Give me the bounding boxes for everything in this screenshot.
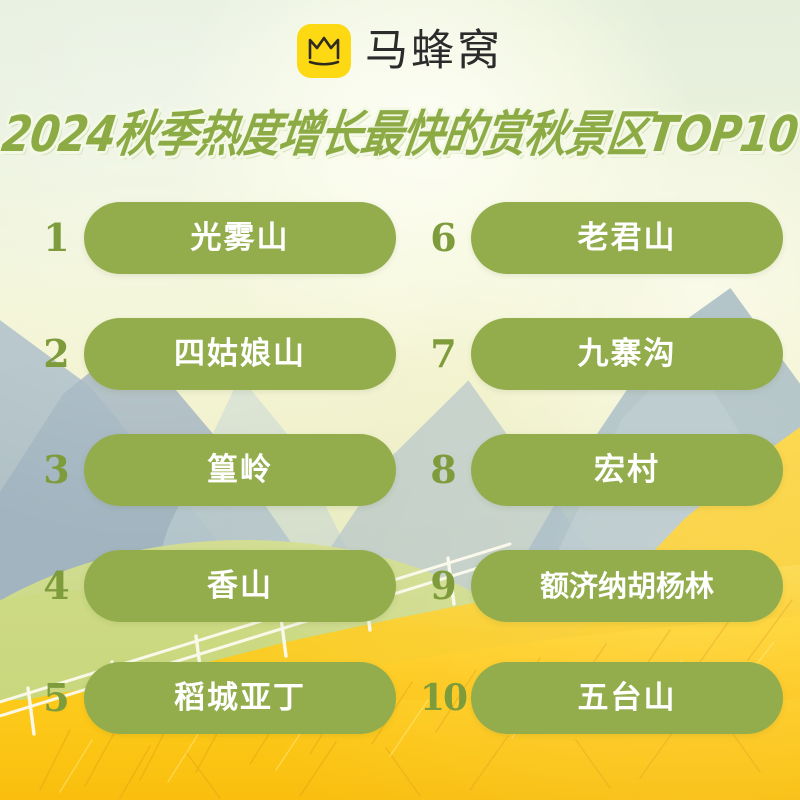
rank-number-10: 10: [415, 680, 471, 716]
rank-number-1: 1: [28, 219, 84, 257]
rank-item-6[interactable]: 6 老君山: [415, 202, 783, 274]
crown-glyph-icon: [306, 35, 342, 67]
rank-pill-6[interactable]: 老君山: [471, 202, 783, 274]
rank-number-9: 9: [415, 567, 471, 605]
rank-item-9[interactable]: 9 额济纳胡杨林: [415, 550, 783, 622]
rank-pill-7[interactable]: 九寨沟: [471, 318, 783, 390]
page-title: 2024秋季热度增长最快的赏秋景区TOP10: [0, 100, 800, 160]
rank-name-7: 九寨沟: [578, 339, 677, 370]
rank-number-6: 6: [415, 219, 471, 257]
rank-item-5[interactable]: 5 稻城亚丁: [28, 662, 396, 734]
rank-name-10: 五台山: [578, 683, 677, 714]
rank-number-2: 2: [28, 335, 84, 373]
rank-pill-5[interactable]: 稻城亚丁: [84, 662, 396, 734]
rank-item-3[interactable]: 3 篁岭: [28, 434, 396, 506]
rank-item-2[interactable]: 2 四姑娘山: [28, 318, 396, 390]
rank-pill-1[interactable]: 光雾山: [84, 202, 396, 274]
rank-name-5: 稻城亚丁: [174, 683, 306, 714]
mafengwo-crown-logo-icon: [297, 24, 351, 78]
rank-number-7: 7: [415, 335, 471, 373]
ranking-grid: 1 光雾山 2 四姑娘山 3 篁岭 4 香山: [0, 196, 800, 756]
rank-number-5: 5: [28, 679, 84, 717]
rank-name-8: 宏村: [594, 455, 660, 486]
rank-item-7[interactable]: 7 九寨沟: [415, 318, 783, 390]
rank-pill-2[interactable]: 四姑娘山: [84, 318, 396, 390]
rank-name-6: 老君山: [578, 223, 677, 254]
rank-number-4: 4: [28, 567, 84, 605]
rank-item-4[interactable]: 4 香山: [28, 550, 396, 622]
rank-item-10[interactable]: 10 五台山: [415, 662, 783, 734]
page-title-text: 2024秋季热度增长最快的赏秋景区TOP10: [0, 94, 800, 166]
rank-pill-4[interactable]: 香山: [84, 550, 396, 622]
rank-name-3: 篁岭: [207, 455, 273, 486]
poster-canvas: 马蜂窝 2024秋季热度增长最快的赏秋景区TOP10 1 光雾山 2 四姑娘山 …: [0, 0, 800, 800]
rank-pill-10[interactable]: 五台山: [471, 662, 783, 734]
rank-number-3: 3: [28, 451, 84, 489]
ranking-column-left: 1 光雾山 2 四姑娘山 3 篁岭 4 香山: [28, 196, 408, 756]
rank-pill-9[interactable]: 额济纳胡杨林: [471, 550, 783, 622]
rank-pill-3[interactable]: 篁岭: [84, 434, 396, 506]
rank-item-8[interactable]: 8 宏村: [415, 434, 783, 506]
brand-header: 马蜂窝: [0, 22, 800, 80]
rank-name-2: 四姑娘山: [174, 339, 306, 370]
rank-pill-8[interactable]: 宏村: [471, 434, 783, 506]
rank-item-1[interactable]: 1 光雾山: [28, 202, 396, 274]
ranking-column-right: 6 老君山 7 九寨沟 8 宏村 9 额济纳胡杨林: [415, 196, 795, 756]
rank-number-8: 8: [415, 451, 471, 489]
rank-name-4: 香山: [207, 571, 273, 602]
brand-name-text: 马蜂窝: [365, 30, 503, 73]
rank-name-1: 光雾山: [191, 223, 290, 254]
rank-name-9: 额济纳胡杨林: [540, 572, 714, 601]
